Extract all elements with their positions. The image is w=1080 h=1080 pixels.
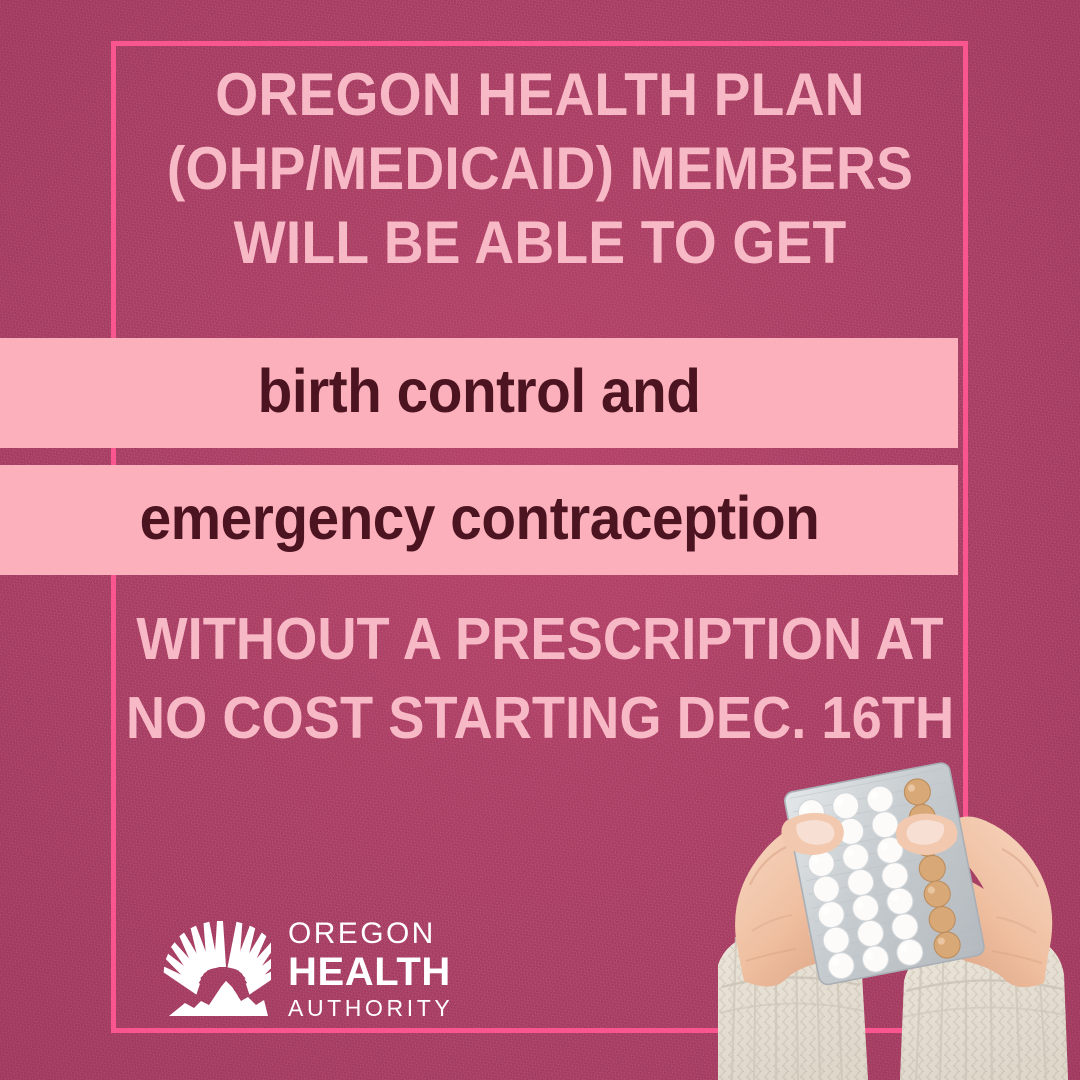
highlight-band-birth-control: birth control and	[0, 338, 958, 448]
highlight-band-text-2: emergency contraception	[139, 488, 819, 553]
oha-logo: OREGON HEALTH AUTHORITY	[163, 917, 453, 1020]
headline-line-2: (OHP/MEDICAID) MEMBERS	[43, 132, 1037, 206]
headline-line-1: OREGON HEALTH PLAN	[43, 58, 1037, 132]
subheadline: WITHOUT A PRESCRIPTION AT NO COST STARTI…	[43, 600, 1037, 758]
logo-word-oregon: OREGON	[288, 919, 453, 949]
logo-word-authority: AUTHORITY	[288, 997, 453, 1020]
oha-logo-wordmark: OREGON HEALTH AUTHORITY	[288, 917, 453, 1020]
headline-line-3: WILL BE ABLE TO GET	[43, 206, 1037, 280]
blister-pack	[783, 762, 985, 986]
subheadline-line-1: WITHOUT A PRESCRIPTION AT	[43, 600, 1037, 679]
subheadline-line-2: NO COST STARTING DEC. 16TH	[43, 679, 1037, 758]
poster-canvas: OREGON HEALTH PLAN (OHP/MEDICAID) MEMBER…	[0, 0, 1080, 1080]
sunburst-mountain-icon	[163, 917, 271, 1020]
photo-hands-holding-blister-pack	[700, 755, 1080, 1080]
highlight-band-emergency-contraception: emergency contraception	[0, 465, 958, 575]
highlight-band-text-1: birth control and	[258, 361, 701, 426]
logo-word-health: HEALTH	[288, 952, 453, 992]
headline: OREGON HEALTH PLAN (OHP/MEDICAID) MEMBER…	[43, 58, 1037, 280]
